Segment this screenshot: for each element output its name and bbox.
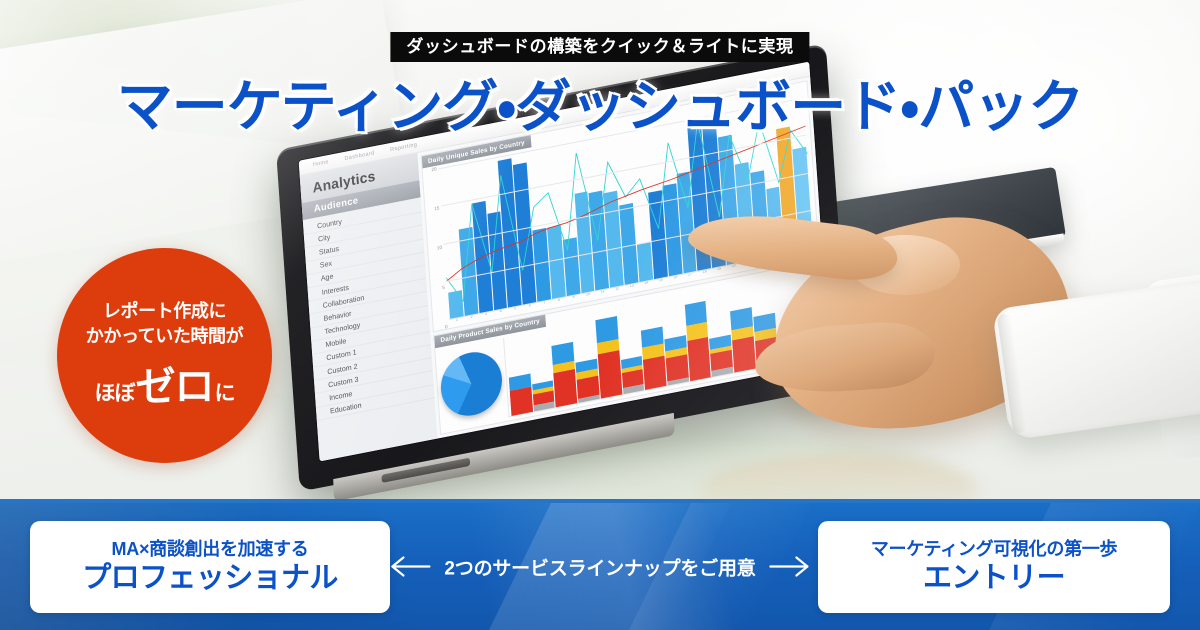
highlight-badge: レポート作成に かかっていた時間が ほぼ ゼロ に <box>57 248 272 463</box>
chart-c-bar-segment <box>554 369 578 407</box>
chart-c-bar-column <box>509 374 533 416</box>
chart-b-pie <box>439 347 504 421</box>
nav-item-home[interactable]: Home <box>313 159 329 168</box>
chart-c-bar-column <box>621 356 645 394</box>
highlight-badge-suffix: に <box>215 377 235 407</box>
chart-c-bar-column <box>664 335 689 386</box>
nav-item-reporting[interactable]: Reporting <box>390 142 417 153</box>
chart-c-bar-segment <box>643 356 666 390</box>
entry-title: エントリー <box>923 561 1065 596</box>
service-lineup-caption: 2つのサービスラインナップをご用意 <box>389 553 810 580</box>
entry-subtitle: マーケティング可視化の第一歩 <box>871 538 1117 561</box>
chart-c-bar-segment <box>598 350 622 399</box>
professional-title: プロフェッショナル <box>82 561 338 596</box>
chart-a-ytick: 0 <box>445 324 448 330</box>
service-card-professional[interactable]: MA×商談創出を加速する プロフェッショナル <box>30 521 390 613</box>
nav-item-dashboard[interactable]: Dashboard <box>344 150 374 162</box>
chart-a-ytick: 5 <box>442 285 445 291</box>
dashboard-sidebar: Analytics Audience Country City Status S… <box>300 153 438 461</box>
chart-a-ytick: 10 <box>437 245 442 251</box>
marketing-banner: Home Dashboard Reporting Analytics Audie… <box>0 0 1200 630</box>
index-finger <box>685 206 900 285</box>
chart-c-bar-segment <box>510 386 533 416</box>
service-lineup-bar: MA×商談創出を加速する プロフェッショナル 2つのサービスラインナップをご用意… <box>0 503 1200 630</box>
arrow-right-icon <box>769 555 811 579</box>
chart-a-ytick: 15 <box>434 206 439 212</box>
highlight-badge-line2: かかっていた時間が <box>86 324 244 348</box>
professional-subtitle: MA×商談創出を加速する <box>112 538 309 561</box>
chart-a-ytick: 20 <box>431 166 436 172</box>
page-title: マーケティング・ダッシュボード・パック <box>117 78 1084 137</box>
highlight-badge-line3: ほぼ ゼロ に <box>95 354 235 412</box>
chart-c-bar-column <box>595 316 622 399</box>
highlight-badge-line1: レポート作成に <box>103 299 226 323</box>
service-card-entry[interactable]: マーケティング可視化の第一歩 エントリー <box>818 521 1170 613</box>
hand-touching-screen <box>700 175 1200 515</box>
hero-eyebrow-badge: ダッシュボードの構築をクイック＆ライトに実現 <box>390 32 809 62</box>
chart-c-bar-column <box>532 380 555 412</box>
chart-c-bar-column <box>641 326 666 389</box>
service-lineup-text: 2つのサービスラインナップをご用意 <box>444 553 755 580</box>
highlight-badge-prefix: ほぼ <box>95 377 135 407</box>
arrow-left-icon <box>389 555 431 579</box>
chart-c-bar-column <box>576 359 600 403</box>
highlight-badge-emphasis: ゼロ <box>136 354 214 412</box>
chart-c-bar-column <box>552 342 578 408</box>
sidebar-item-list: Country City Status Sex Age Interests Co… <box>303 197 435 421</box>
